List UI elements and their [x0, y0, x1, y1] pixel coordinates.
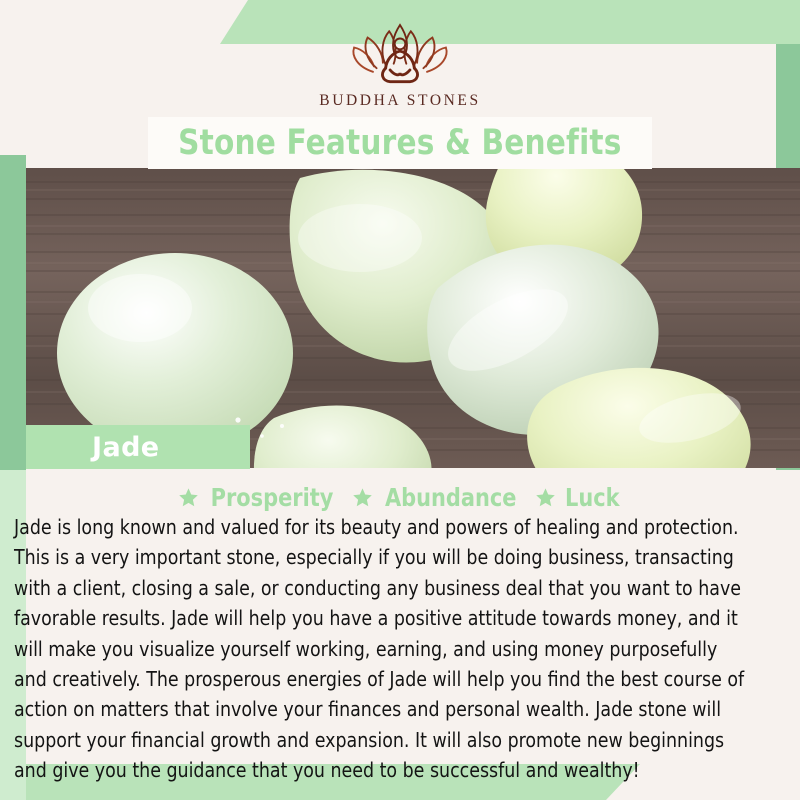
jade-stones-illustration — [0, 168, 800, 468]
poster-canvas: BUDDHA STONES Stone Features & Benefits — [0, 0, 800, 800]
stone-name-band: Jade — [26, 425, 250, 469]
lotus-meditation-icon — [346, 16, 454, 88]
benefit-label: Luck — [565, 483, 620, 512]
benefit-item-luck: Luck — [535, 483, 622, 512]
star-icon — [535, 487, 556, 508]
brand-logo: BUDDHA STONES — [0, 0, 800, 120]
hero-photo — [0, 168, 800, 468]
page-title: Stone Features & Benefits — [178, 123, 621, 163]
star-icon — [178, 487, 199, 508]
benefit-item-prosperity: Prosperity — [178, 483, 338, 512]
brand-name: BUDDHA STONES — [319, 92, 480, 110]
star-icon — [352, 487, 373, 508]
stone-description: Jade is long known and valued for its be… — [14, 512, 754, 786]
benefit-item-abundance: Abundance — [352, 483, 521, 512]
stone-name-label: Jade — [92, 432, 160, 463]
benefit-label: Abundance — [385, 483, 517, 512]
benefit-label: Prosperity — [211, 483, 334, 512]
page-title-panel: Stone Features & Benefits — [148, 117, 652, 169]
benefits-row: Prosperity Abundance Luck — [0, 480, 800, 514]
